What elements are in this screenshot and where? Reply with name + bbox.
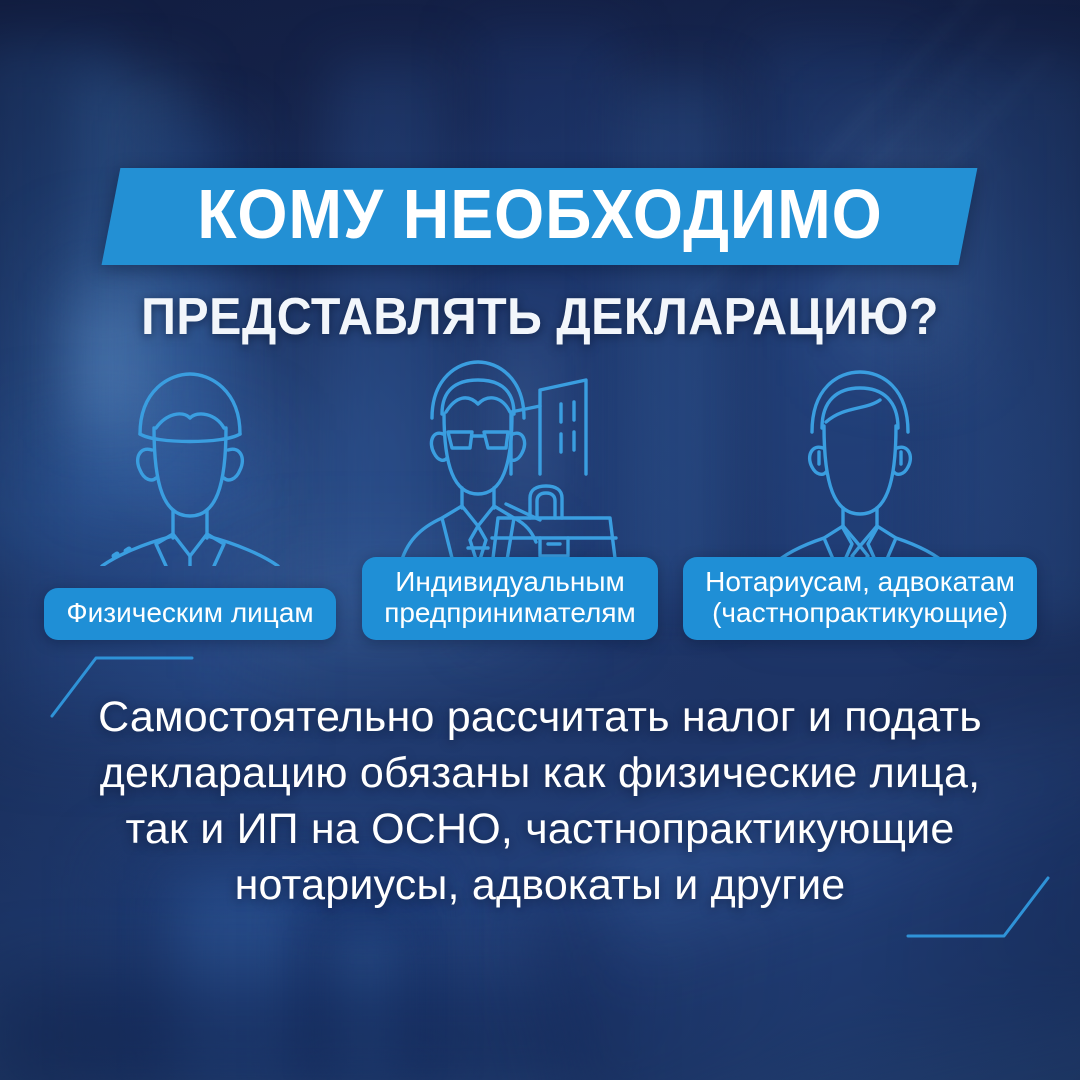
person-plain-icon <box>70 366 310 566</box>
building-shape <box>511 380 586 474</box>
page-title: КОМУ НЕОБХОДИМО <box>198 180 883 249</box>
persona-label-notaries[interactable]: Нотариусам, адвокатам (частнопрактикующи… <box>683 557 1037 640</box>
persona-label-individuals[interactable]: Физическим лицам <box>44 588 335 640</box>
persona-label-entrepreneurs[interactable]: Индивидуальным предпринимателям <box>362 557 658 640</box>
header: КОМУ НЕОБХОДИМО ПРЕДСТАВЛЯТЬ ДЕКЛАРАЦИЮ? <box>0 168 1080 347</box>
businessman-briefcase-building-icon <box>380 356 640 566</box>
bracket-bottom-right-icon <box>908 876 1028 942</box>
statement-text: Самостоятельно рассчитать налог и подать… <box>62 690 1018 914</box>
persona-item-notaries: Нотариусам, адвокатам (частнопрактикующи… <box>680 372 1040 640</box>
persona-item-individuals: Физическим лицам <box>40 372 340 640</box>
statement-block: Самостоятельно рассчитать налог и подать… <box>62 652 1018 952</box>
page-subtitle: ПРЕДСТАВЛЯТЬ ДЕКЛАРАЦИЮ? <box>38 287 1042 347</box>
persona-item-entrepreneurs: Индивидуальным предпринимателям <box>355 372 665 640</box>
person-suit-tie-icon <box>740 366 980 566</box>
persona-row: Физическим лицам <box>40 372 1040 640</box>
infographic-poster: КОМУ НЕОБХОДИМО ПРЕДСТАВЛЯТЬ ДЕКЛАРАЦИЮ? <box>0 0 1080 1080</box>
title-banner: КОМУ НЕОБХОДИМО <box>102 168 978 265</box>
briefcase-shape <box>492 486 616 566</box>
